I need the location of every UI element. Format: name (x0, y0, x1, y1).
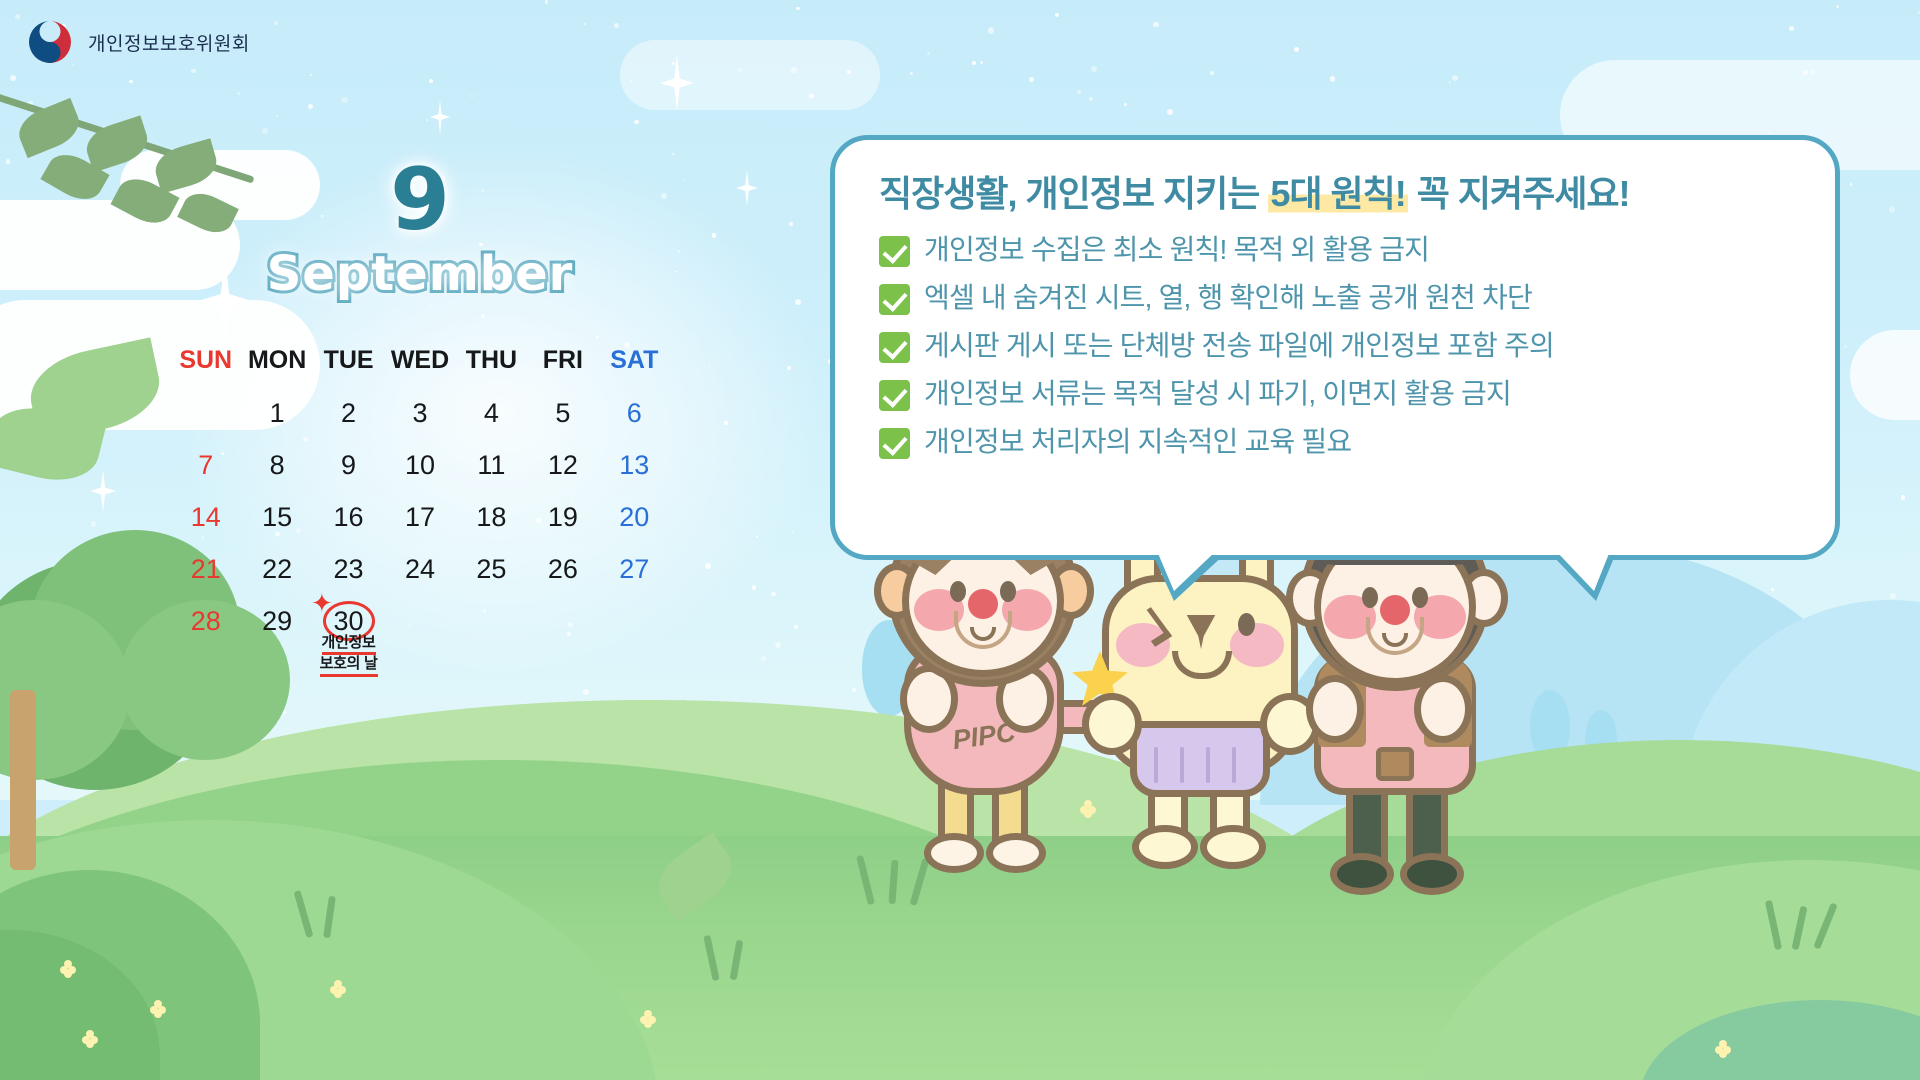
calendar-day-14[interactable]: 14 (170, 496, 241, 538)
calendar-day-number: 14 (191, 502, 221, 532)
calendar-day-number: 20 (619, 502, 649, 532)
calendar-cell-empty (456, 600, 527, 642)
title-part-4: 꼭 지켜주세요! (1408, 173, 1630, 214)
title-highlight: 5대 원칙! (1268, 173, 1407, 214)
tip-item-5: 개인정보 처리자의 지속적인 교육 필요 (879, 424, 1795, 459)
calendar-weekday-sun: SUN (170, 346, 241, 382)
calendar-day-number: 19 (548, 502, 578, 532)
calendar-day-17[interactable]: 17 (384, 496, 455, 538)
sky-speck (471, 95, 473, 97)
calendar-day-22[interactable]: 22 (241, 548, 312, 590)
calendar-day-13[interactable]: 13 (599, 444, 670, 486)
calendar-day-number: 23 (334, 554, 364, 584)
flower-5 (1715, 1040, 1731, 1056)
right-mascot-shoe-2 (1400, 853, 1464, 895)
calendar-day-11[interactable]: 11 (456, 444, 527, 486)
sky-speck (724, 421, 728, 425)
sky-speck (1124, 103, 1127, 106)
calendar-cell-empty (384, 600, 455, 642)
calendar-day-number: 12 (548, 450, 578, 480)
tip-item-3: 게시판 게시 또는 단체방 전송 파일에 개인정보 포함 주의 (879, 328, 1795, 363)
calendar-day-18[interactable]: 18 (456, 496, 527, 538)
calendar-day-number: 1 (270, 398, 285, 428)
sky-speck (927, 52, 930, 55)
center-mascot-pants-line-3 (1206, 747, 1210, 783)
sky-speck (1890, 593, 1896, 599)
right-mascot-belt (1376, 747, 1414, 781)
calendar-day-16[interactable]: 16 (313, 496, 384, 538)
wallpaper-canvas: 개인정보보호위원회 9 September SUNMONTUEWEDTHUFRI… (0, 0, 1920, 1080)
calendar-day-number: 8 (270, 450, 285, 480)
calendar-day-21[interactable]: 21 (170, 548, 241, 590)
sky-speck (6, 159, 11, 164)
calendar-month-number: 9 (170, 160, 670, 242)
sky-speck (761, 656, 766, 661)
tip-item-2: 엑셀 내 숨겨진 시트, 열, 행 확인해 노출 공개 원천 차단 (879, 280, 1795, 315)
calendar-day-number: 6 (627, 398, 642, 428)
calendar-day-number: 27 (619, 554, 649, 584)
tip-text: 개인정보 수집은 최소 원칙! 목적 외 활용 금지 (924, 232, 1429, 267)
center-mascot-pants (1130, 721, 1270, 797)
calendar-day-27[interactable]: 27 (599, 548, 670, 590)
calendar-day-15[interactable]: 15 (241, 496, 312, 538)
sky-speck (310, 74, 312, 76)
title-part-1: 직장생활, (879, 173, 1025, 214)
sky-speck (1844, 345, 1847, 348)
check-icon (879, 236, 910, 267)
calendar-day-26[interactable]: 26 (527, 548, 598, 590)
center-mascot-pants-line-4 (1232, 747, 1236, 783)
taegeuk-icon (26, 18, 74, 66)
sky-speck (276, 115, 278, 117)
calendar-day-5[interactable]: 5 (527, 392, 598, 434)
calendar-day-19[interactable]: 19 (527, 496, 598, 538)
right-mascot-hand-1 (1306, 675, 1364, 743)
calendar-day-2[interactable]: 2 (313, 392, 384, 434)
tip-text: 개인정보 서류는 목적 달성 시 파기, 이면지 활용 금지 (924, 376, 1511, 411)
calendar-cell-empty (527, 600, 598, 642)
calendar-day-8[interactable]: 8 (241, 444, 312, 486)
calendar-day-number: 26 (548, 554, 578, 584)
calendar-day-4[interactable]: 4 (456, 392, 527, 434)
flower-3 (82, 1030, 98, 1046)
calendar-day-23[interactable]: 23 (313, 548, 384, 590)
calendar-weekday-fri: FRI (527, 346, 598, 382)
calendar-widget: 9 September SUNMONTUEWEDTHUFRISAT1234567… (170, 160, 670, 642)
organization-name: 개인정보보호위원회 (88, 29, 250, 56)
calendar-day-number: 28 (191, 606, 221, 636)
right-mascot-eye-2 (1412, 587, 1428, 608)
sky-speck (1452, 75, 1458, 81)
sky-speck (545, 0, 548, 3)
right-mascot-eye-1 (1362, 587, 1378, 608)
calendar-day-number: 7 (198, 450, 213, 480)
calendar-day-number: 18 (476, 502, 506, 532)
calendar-day-number: 21 (191, 554, 221, 584)
sky-speck (972, 61, 976, 65)
check-icon (879, 284, 910, 315)
calendar-day-6[interactable]: 6 (599, 392, 670, 434)
calendar-day-number: 10 (405, 450, 435, 480)
calendar-day-3[interactable]: 3 (384, 392, 455, 434)
calendar-day-number: 25 (476, 554, 506, 584)
left-mascot-eye-1 (950, 581, 966, 602)
center-mascot-pants-line-2 (1180, 747, 1184, 783)
tip-item-1: 개인정보 수집은 최소 원칙! 목적 외 활용 금지 (879, 232, 1795, 267)
sky-speck (1901, 495, 1905, 499)
tip-item-4: 개인정보 서류는 목적 달성 시 파기, 이면지 활용 금지 (879, 376, 1795, 411)
left-mascot-shoe-1 (924, 833, 984, 873)
calendar-day-25[interactable]: 25 (456, 548, 527, 590)
calendar-cell-empty (170, 392, 241, 434)
calendar-weekday-sat: SAT (599, 346, 670, 382)
sky-speck (262, 128, 267, 133)
big-tree-trunk (10, 690, 36, 870)
right-mascot-shoe-1 (1330, 853, 1394, 895)
cloud-5 (620, 40, 880, 110)
flower-6 (640, 1010, 656, 1026)
bubble-title: 직장생활, 개인정보 지키는 5대 원칙! 꼭 지켜주세요! (879, 174, 1795, 214)
calendar-weekday-tue: TUE (313, 346, 384, 382)
sky-speck (1055, 13, 1059, 17)
calendar-day-number: 30 (334, 606, 364, 636)
calendar-day-1[interactable]: 1 (241, 392, 312, 434)
calendar-grid: SUNMONTUEWEDTHUFRISAT1234567891011121314… (170, 346, 670, 642)
calendar-weekday-thu: THU (456, 346, 527, 382)
calendar-day-9[interactable]: 9 (313, 444, 384, 486)
calendar-day-number: 17 (405, 502, 435, 532)
calendar-day-number: 11 (477, 450, 505, 480)
title-part-3: 지키는 (1154, 173, 1268, 214)
check-icon (879, 380, 910, 411)
calendar-month-name: September (170, 246, 670, 302)
calendar-day-number: 5 (555, 398, 570, 428)
sky-speck (795, 299, 801, 305)
sky-speck (341, 97, 347, 103)
tip-text: 개인정보 처리자의 지속적인 교육 필요 (924, 424, 1351, 459)
center-mascot-pants-line-1 (1154, 747, 1158, 783)
center-mascot-eye-2 (1238, 613, 1255, 636)
header-logo: 개인정보보호위원회 (26, 18, 250, 66)
calendar-day-number: 15 (262, 502, 292, 532)
sky-speck (1167, 109, 1173, 115)
calendar-cell-empty (599, 600, 670, 642)
calendar-day-number: 29 (262, 606, 292, 636)
center-mascot-shoe-1 (1132, 825, 1198, 869)
calendar-day-number: 2 (341, 398, 356, 428)
left-mascot-eye-2 (1000, 581, 1016, 602)
calendar-day-28[interactable]: 28 (170, 600, 241, 642)
sky-speck (1889, 206, 1895, 212)
calendar-day-12[interactable]: 12 (527, 444, 598, 486)
sky-speck (426, 119, 428, 121)
calendar-day-number: 3 (412, 398, 427, 428)
tip-text: 엑셀 내 숨겨진 시트, 열, 행 확인해 노출 공개 원천 차단 (924, 280, 1532, 315)
calendar-day-24[interactable]: 24 (384, 548, 455, 590)
calendar-day-number: 16 (334, 502, 364, 532)
calendar-day-number: 4 (484, 398, 499, 428)
calendar-day-10[interactable]: 10 (384, 444, 455, 486)
sky-speck (15, 14, 20, 19)
tips-list: 개인정보 수집은 최소 원칙! 목적 외 활용 금지엑셀 내 숨겨진 시트, 열… (879, 232, 1795, 459)
calendar-day-number: 24 (405, 554, 435, 584)
bubble-tail-right-inner (1556, 551, 1610, 591)
calendar-day-7[interactable]: 7 (170, 444, 241, 486)
calendar-day-30[interactable]: ✦개인정보보호의 날30 (313, 600, 384, 642)
sky-speck (191, 69, 196, 74)
sky-speck (712, 233, 717, 238)
calendar-day-20[interactable]: 20 (599, 496, 670, 538)
sky-speck (1330, 76, 1335, 81)
left-mascot-shoe-2 (986, 833, 1046, 873)
flower-1 (60, 960, 76, 976)
center-mascot-hand-1 (1082, 693, 1142, 755)
tip-text: 게시판 게시 또는 단체방 전송 파일에 개인정보 포함 주의 (924, 328, 1554, 363)
calendar-weekday-wed: WED (384, 346, 455, 382)
calendar-day-number: 9 (341, 450, 356, 480)
sky-speck (1089, 97, 1093, 101)
bubble-tail-left-inner (1157, 551, 1216, 591)
flower-2 (150, 1000, 166, 1016)
calendar-day-number: 22 (262, 554, 292, 584)
sky-speck (988, 27, 994, 33)
calendar-day-number: 13 (619, 450, 649, 480)
flower-4 (330, 980, 346, 996)
tips-speech-bubble: 직장생활, 개인정보 지키는 5대 원칙! 꼭 지켜주세요! 개인정보 수집은 … (830, 135, 1840, 560)
marked-day-star-icon: ✦ (309, 590, 335, 616)
sky-speck (583, 689, 589, 695)
sky-speck (634, 120, 638, 124)
check-icon (879, 332, 910, 363)
title-part-2: 개인정보 (1025, 173, 1153, 214)
sky-speck (1210, 71, 1213, 74)
sky-speck (1294, 47, 1299, 52)
sky-speck (871, 591, 873, 593)
center-mascot-shoe-2 (1200, 825, 1266, 869)
sky-speck (1077, 90, 1081, 94)
sky-speck (91, 521, 97, 527)
sky-speck (756, 535, 759, 538)
calendar-weekday-mon: MON (241, 346, 312, 382)
check-icon (879, 428, 910, 459)
